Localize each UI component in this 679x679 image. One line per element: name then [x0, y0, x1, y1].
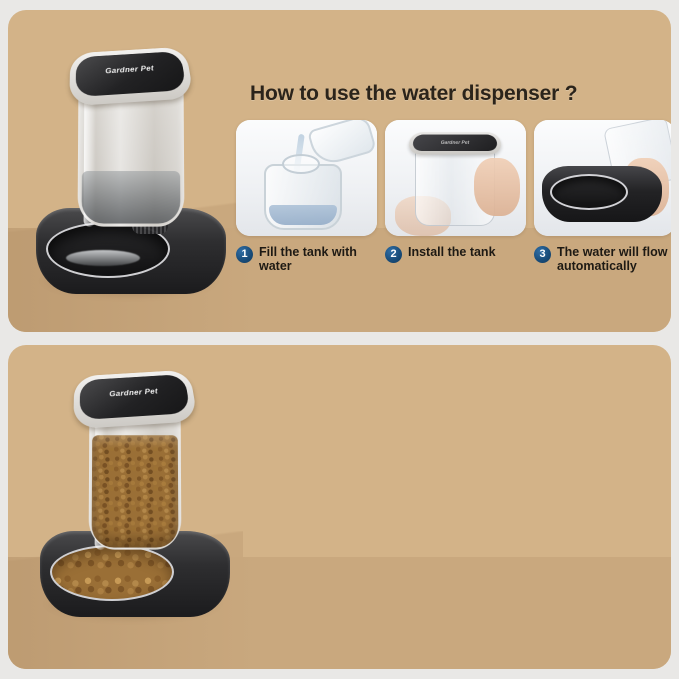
step-number-badge: 1 — [236, 246, 253, 263]
step-number-badge: 2 — [385, 246, 402, 263]
food-feeder-panel: Gardner Pet How to use the food feeder ?… — [8, 345, 671, 669]
thumb-water-flows-into-bowl — [534, 120, 671, 236]
step-label: The water will flow automatically — [557, 245, 671, 273]
water-dispenser-panel: Gardner Pet How to use the water dispens… — [8, 10, 671, 332]
step-label: Install the tank — [408, 245, 496, 259]
step-row-water: 1 Fill the tank with water 2 Install the… — [236, 245, 657, 273]
water-pool — [66, 250, 140, 266]
hero-food-feeder-product: Gardner Pet — [34, 363, 244, 633]
step-label: Fill the tank with water — [259, 245, 377, 273]
tank-lid: Gardner Pet — [69, 47, 194, 107]
water-inside — [269, 205, 337, 225]
brand-label: Gardner Pet — [412, 135, 498, 151]
thumb-install-tank: Gardner Pet — [385, 120, 526, 236]
tank-opening — [282, 154, 320, 174]
tank-lid-face: Gardner Pet — [80, 374, 191, 420]
thumb-pour-water-into-tank — [236, 120, 377, 236]
brand-label: Gardner Pet — [76, 62, 183, 77]
feeder-bowl-with-kibble — [50, 545, 174, 601]
infographic-page: Gardner Pet How to use the water dispens… — [0, 0, 679, 679]
dispenser-base — [542, 166, 662, 222]
step-item: 3 The water will flow automatically — [534, 245, 671, 273]
page-title-water: How to use the water dispenser ? — [250, 82, 657, 106]
tank-lid-face: Gardner Pet — [412, 135, 498, 151]
hero-water-dispenser-product: Gardner Pet — [30, 40, 240, 310]
brand-label: Gardner Pet — [80, 385, 187, 400]
tank-water-level — [82, 171, 181, 224]
step-number-badge: 3 — [534, 246, 551, 263]
dispenser-bowl — [550, 174, 628, 210]
tank-kibble-level — [92, 435, 179, 547]
tank-lid: Gardner Pet — [73, 370, 198, 430]
step-item: 2 Install the tank — [385, 245, 526, 273]
step-item: 1 Fill the tank with water — [236, 245, 377, 273]
hand-icon — [474, 158, 520, 216]
tank-lid-face: Gardner Pet — [76, 51, 187, 97]
water-instructions: How to use the water dispenser ? — [236, 82, 657, 273]
tank-lid: Gardner Pet — [407, 132, 502, 155]
thumbnail-row-water: Gardner Pet — [236, 120, 657, 236]
